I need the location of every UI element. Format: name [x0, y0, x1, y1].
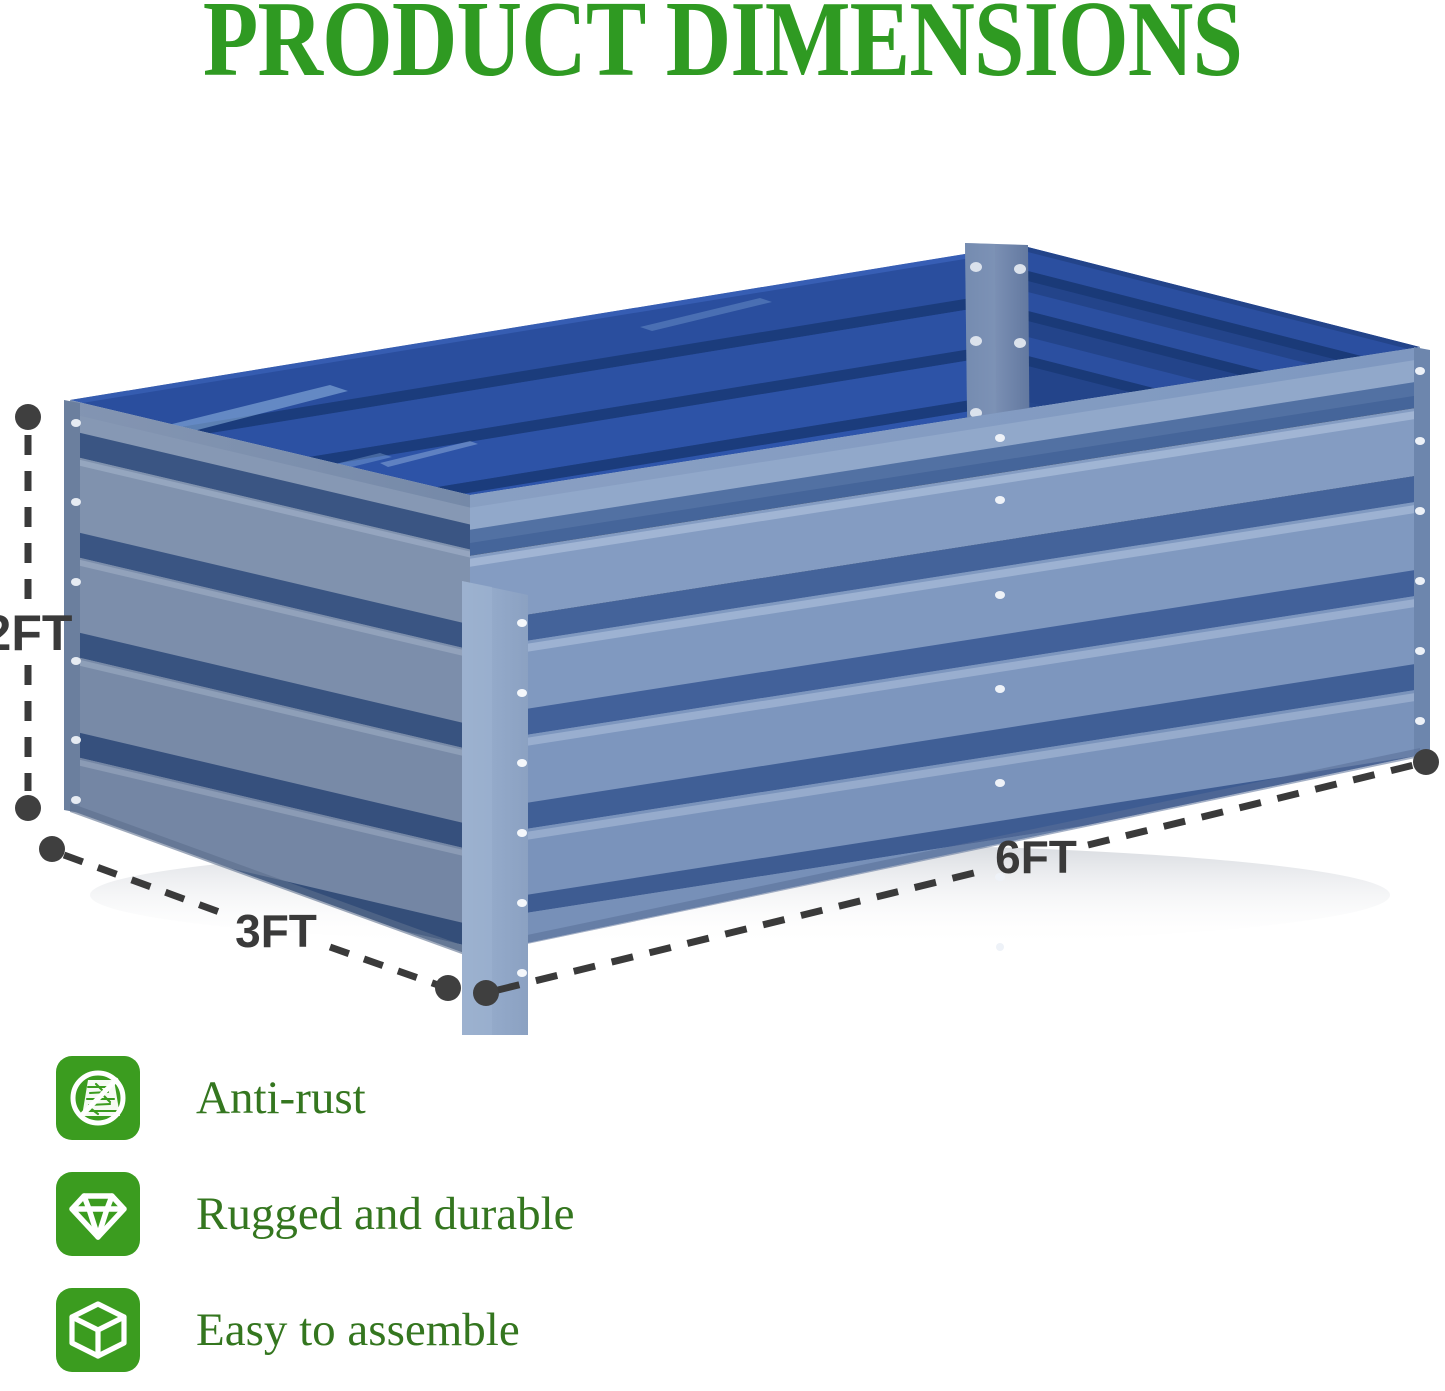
dimension-width-label: 3FT	[235, 905, 317, 957]
feature-label-easy-assemble: Easy to assemble	[196, 1307, 520, 1354]
diamond-icon	[56, 1172, 140, 1256]
product-illustration: 2FT 3FT 6FT	[0, 195, 1445, 1035]
feature-list: Anti-rust Rugged and durable	[56, 1040, 856, 1388]
page-title: PRODUCT DIMENSIONS	[116, 0, 1330, 94]
feature-label-anti-rust: Anti-rust	[196, 1075, 366, 1122]
front-corner-post	[462, 581, 528, 1035]
dimension-height-label: 2FT	[0, 605, 72, 661]
assembly-box-icon	[56, 1288, 140, 1372]
no-rust-icon	[56, 1056, 140, 1140]
feature-item-anti-rust: Anti-rust	[56, 1040, 856, 1156]
feature-label-rugged-durable: Rugged and durable	[196, 1191, 575, 1238]
feature-item-rugged-durable: Rugged and durable	[56, 1156, 856, 1272]
dimension-length-label: 6FT	[995, 831, 1077, 883]
dimension-height: 2FT	[0, 404, 72, 821]
feature-item-easy-assemble: Easy to assemble	[56, 1272, 856, 1388]
